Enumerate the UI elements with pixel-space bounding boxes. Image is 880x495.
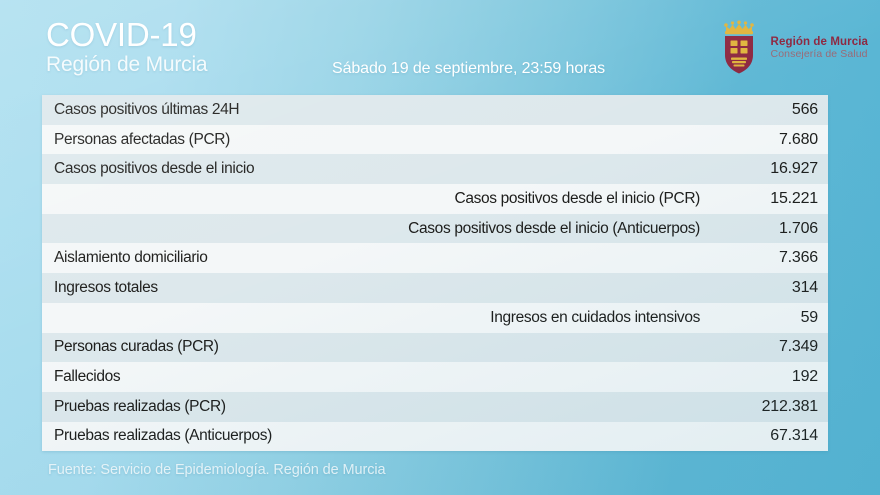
row-value: 67.314 [726, 427, 818, 445]
row-label: Pruebas realizadas (PCR) [54, 398, 726, 416]
table-row: Casos positivos últimas 24H566 [42, 95, 828, 125]
row-label: Casos positivos desde el inicio [54, 160, 726, 178]
logo-line-1: Región de Murcia [771, 36, 868, 48]
table-row: Personas afectadas (PCR)7.680 [42, 125, 828, 155]
row-value: 7.680 [726, 131, 818, 149]
row-label: Ingresos en cuidados intensivos [54, 309, 726, 327]
table-row: Pruebas realizadas (Anticuerpos)67.314 [42, 422, 828, 452]
row-value: 7.366 [726, 249, 818, 267]
logo-line-2: Consejería de Salud [771, 49, 868, 60]
shield-icon [719, 18, 763, 76]
row-value: 15.221 [726, 190, 818, 208]
table-row: Casos positivos desde el inicio16.927 [42, 154, 828, 184]
table-row: Ingresos en cuidados intensivos59 [42, 303, 828, 333]
poster-header: COVID-19 Región de Murcia Sábado 19 de s… [0, 0, 880, 92]
row-label: Casos positivos desde el inicio (Anticue… [54, 220, 726, 238]
table-row: Personas curadas (PCR)7.349 [42, 333, 828, 363]
row-label: Ingresos totales [54, 279, 726, 297]
row-value: 7.349 [726, 338, 818, 356]
report-date: Sábado 19 de septiembre, 23:59 horas [332, 60, 605, 78]
table-row: Casos positivos desde el inicio (PCR)15.… [42, 184, 828, 214]
institution-logo: Región de Murcia Consejería de Salud [719, 18, 868, 76]
logo-text: Región de Murcia Consejería de Salud [771, 34, 868, 60]
row-value: 59 [726, 309, 818, 327]
page-subtitle: Región de Murcia [46, 52, 207, 77]
table-row: Aislamiento domiciliario7.366 [42, 243, 828, 273]
row-label: Casos positivos desde el inicio (PCR) [54, 190, 726, 208]
statistics-table: Casos positivos últimas 24H566Personas a… [42, 95, 828, 451]
row-value: 212.381 [726, 398, 818, 416]
table-row: Ingresos totales314 [42, 273, 828, 303]
row-label: Personas curadas (PCR) [54, 338, 726, 356]
title-block: COVID-19 Región de Murcia [46, 18, 207, 77]
row-label: Casos positivos últimas 24H [54, 101, 726, 119]
row-label: Personas afectadas (PCR) [54, 131, 726, 149]
row-value: 314 [726, 279, 818, 297]
table-row: Pruebas realizadas (PCR)212.381 [42, 392, 828, 422]
table-row: Casos positivos desde el inicio (Anticue… [42, 214, 828, 244]
table-row: Fallecidos192 [42, 362, 828, 392]
covid-statistics-poster: COVID-19 Región de Murcia Sábado 19 de s… [0, 0, 880, 495]
row-value: 566 [726, 101, 818, 119]
row-value: 1.706 [726, 220, 818, 238]
row-label: Aislamiento domiciliario [54, 249, 726, 267]
row-label: Fallecidos [54, 368, 726, 386]
row-value: 16.927 [726, 160, 818, 178]
source-note: Fuente: Servicio de Epidemiología. Regió… [48, 462, 385, 478]
row-value: 192 [726, 368, 818, 386]
row-label: Pruebas realizadas (Anticuerpos) [54, 427, 726, 445]
page-title: COVID-19 [46, 18, 207, 52]
